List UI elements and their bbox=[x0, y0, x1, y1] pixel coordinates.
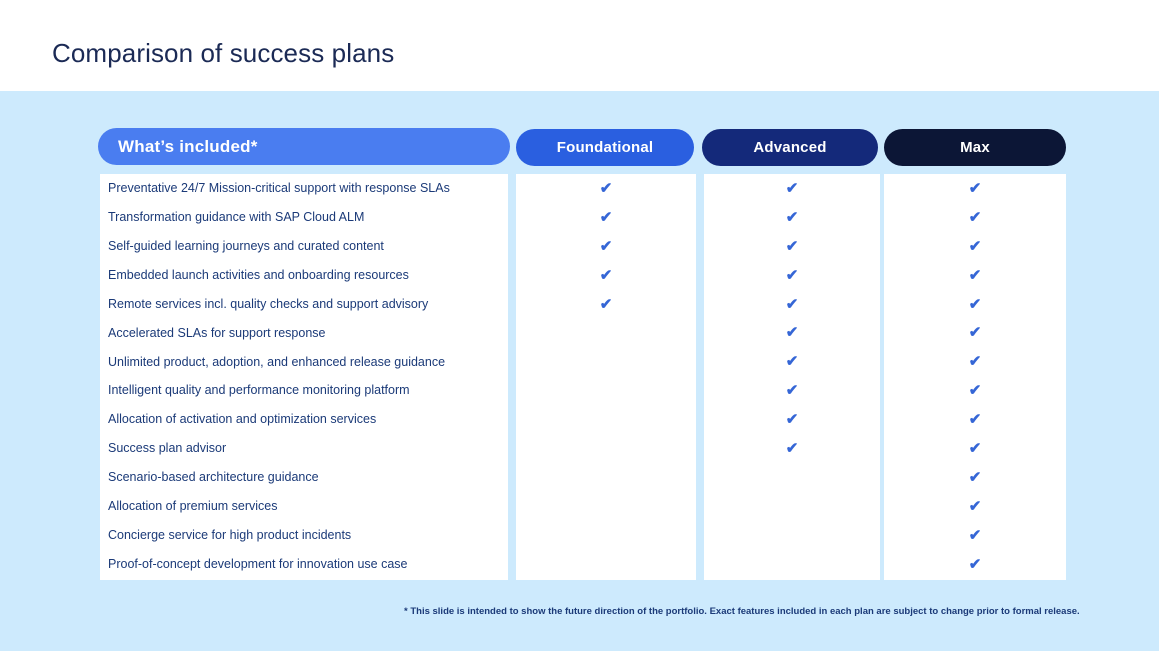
feature-label: Allocation of activation and optimizatio… bbox=[108, 413, 376, 426]
table-row: Intelligent quality and performance moni… bbox=[108, 376, 508, 405]
check-icon-cell: ✔ bbox=[884, 232, 1066, 261]
column-header-advanced[interactable]: Advanced bbox=[702, 129, 878, 166]
empty-cell: ✔ bbox=[516, 376, 696, 405]
check-icon-cell: ✔ bbox=[704, 203, 880, 232]
check-icon: ✔ bbox=[969, 383, 982, 398]
column-header-foundational[interactable]: Foundational bbox=[516, 129, 694, 166]
feature-label: Intelligent quality and performance moni… bbox=[108, 384, 410, 397]
check-icon-cell: ✔ bbox=[884, 434, 1066, 463]
check-icon: ✔ bbox=[969, 470, 982, 485]
column-header-max-label: Max bbox=[960, 139, 990, 156]
check-icon: ✔ bbox=[786, 354, 799, 369]
table-row: Allocation of premium services bbox=[108, 492, 508, 521]
check-icon: ✔ bbox=[969, 557, 982, 572]
check-icon-cell: ✔ bbox=[516, 232, 696, 261]
check-icon: ✔ bbox=[600, 181, 613, 196]
check-icon-cell: ✔ bbox=[884, 261, 1066, 290]
check-column-advanced: ✔✔✔✔✔✔✔✔✔✔✔✔✔✔ bbox=[704, 174, 880, 578]
check-icon-cell: ✔ bbox=[884, 376, 1066, 405]
check-icon: ✔ bbox=[786, 181, 799, 196]
empty-cell: ✔ bbox=[516, 347, 696, 376]
empty-cell: ✔ bbox=[704, 550, 880, 579]
check-icon: ✔ bbox=[786, 239, 799, 254]
check-icon: ✔ bbox=[600, 297, 613, 312]
check-icon: ✔ bbox=[969, 412, 982, 427]
check-icon-cell: ✔ bbox=[884, 463, 1066, 492]
empty-cell: ✔ bbox=[704, 463, 880, 492]
table-row: Proof-of-concept development for innovat… bbox=[108, 550, 508, 579]
check-icon: ✔ bbox=[969, 528, 982, 543]
empty-cell: ✔ bbox=[516, 550, 696, 579]
empty-cell: ✔ bbox=[704, 492, 880, 521]
check-icon: ✔ bbox=[786, 268, 799, 283]
check-icon: ✔ bbox=[969, 297, 982, 312]
check-icon: ✔ bbox=[969, 239, 982, 254]
check-icon-cell: ✔ bbox=[516, 174, 696, 203]
feature-label: Proof-of-concept development for innovat… bbox=[108, 558, 407, 571]
table-row: Concierge service for high product incid… bbox=[108, 521, 508, 550]
check-icon-cell: ✔ bbox=[884, 318, 1066, 347]
check-icon-cell: ✔ bbox=[516, 203, 696, 232]
feature-label: Self-guided learning journeys and curate… bbox=[108, 240, 384, 253]
check-icon: ✔ bbox=[969, 210, 982, 225]
empty-cell: ✔ bbox=[516, 405, 696, 434]
column-header-features: What’s included* bbox=[98, 128, 510, 165]
check-icon-cell: ✔ bbox=[704, 232, 880, 261]
check-icon-cell: ✔ bbox=[704, 290, 880, 319]
column-header-features-label: What’s included* bbox=[118, 137, 258, 157]
check-column-max: ✔✔✔✔✔✔✔✔✔✔✔✔✔✔ bbox=[884, 174, 1066, 578]
column-header-advanced-label: Advanced bbox=[753, 139, 826, 156]
column-header-max[interactable]: Max bbox=[884, 129, 1066, 166]
check-icon: ✔ bbox=[600, 210, 613, 225]
empty-cell: ✔ bbox=[516, 492, 696, 521]
check-icon: ✔ bbox=[600, 268, 613, 283]
feature-label: Scenario-based architecture guidance bbox=[108, 471, 319, 484]
page-title: Comparison of success plans bbox=[52, 38, 394, 69]
check-icon-cell: ✔ bbox=[884, 492, 1066, 521]
check-icon: ✔ bbox=[969, 325, 982, 340]
table-row: Remote services incl. quality checks and… bbox=[108, 290, 508, 319]
feature-list: Preventative 24/7 Mission-critical suppo… bbox=[108, 174, 508, 578]
check-icon-cell: ✔ bbox=[884, 550, 1066, 579]
table-row: Transformation guidance with SAP Cloud A… bbox=[108, 203, 508, 232]
check-icon: ✔ bbox=[786, 297, 799, 312]
check-icon: ✔ bbox=[786, 383, 799, 398]
table-row: Self-guided learning journeys and curate… bbox=[108, 232, 508, 261]
check-icon-cell: ✔ bbox=[884, 405, 1066, 434]
check-column-foundational: ✔✔✔✔✔✔✔✔✔✔✔✔✔✔ bbox=[516, 174, 696, 578]
check-icon: ✔ bbox=[786, 441, 799, 456]
check-icon-cell: ✔ bbox=[704, 376, 880, 405]
check-icon-cell: ✔ bbox=[516, 261, 696, 290]
feature-label: Accelerated SLAs for support response bbox=[108, 327, 325, 340]
table-row: Accelerated SLAs for support response bbox=[108, 318, 508, 347]
check-icon-cell: ✔ bbox=[704, 318, 880, 347]
feature-label: Allocation of premium services bbox=[108, 500, 278, 513]
check-icon: ✔ bbox=[969, 268, 982, 283]
check-icon: ✔ bbox=[600, 239, 613, 254]
check-icon-cell: ✔ bbox=[884, 203, 1066, 232]
check-icon: ✔ bbox=[969, 354, 982, 369]
check-icon-cell: ✔ bbox=[704, 434, 880, 463]
table-row: Unlimited product, adoption, and enhance… bbox=[108, 347, 508, 376]
table-row: Allocation of activation and optimizatio… bbox=[108, 405, 508, 434]
check-icon-cell: ✔ bbox=[884, 521, 1066, 550]
check-icon-cell: ✔ bbox=[704, 174, 880, 203]
check-icon: ✔ bbox=[969, 181, 982, 196]
check-icon: ✔ bbox=[786, 210, 799, 225]
footnote: * This slide is intended to show the fut… bbox=[404, 606, 1068, 617]
check-icon-cell: ✔ bbox=[884, 347, 1066, 376]
table-row: Scenario-based architecture guidance bbox=[108, 463, 508, 492]
table-row: Success plan advisor bbox=[108, 434, 508, 463]
check-icon: ✔ bbox=[786, 325, 799, 340]
title-band: Comparison of success plans bbox=[0, 0, 1159, 91]
feature-label: Embedded launch activities and onboardin… bbox=[108, 269, 409, 282]
empty-cell: ✔ bbox=[704, 521, 880, 550]
check-icon-cell: ✔ bbox=[704, 405, 880, 434]
check-icon-cell: ✔ bbox=[516, 290, 696, 319]
check-icon: ✔ bbox=[786, 412, 799, 427]
check-icon: ✔ bbox=[969, 441, 982, 456]
empty-cell: ✔ bbox=[516, 521, 696, 550]
empty-cell: ✔ bbox=[516, 318, 696, 347]
column-header-foundational-label: Foundational bbox=[557, 139, 654, 156]
check-icon: ✔ bbox=[969, 499, 982, 514]
feature-label: Remote services incl. quality checks and… bbox=[108, 298, 428, 311]
feature-label: Preventative 24/7 Mission-critical suppo… bbox=[108, 182, 450, 195]
table-row: Embedded launch activities and onboardin… bbox=[108, 261, 508, 290]
check-icon-cell: ✔ bbox=[884, 290, 1066, 319]
feature-label: Unlimited product, adoption, and enhance… bbox=[108, 356, 445, 369]
feature-label: Success plan advisor bbox=[108, 442, 226, 455]
check-icon-cell: ✔ bbox=[704, 347, 880, 376]
empty-cell: ✔ bbox=[516, 434, 696, 463]
check-icon-cell: ✔ bbox=[704, 261, 880, 290]
feature-label: Concierge service for high product incid… bbox=[108, 529, 351, 542]
empty-cell: ✔ bbox=[516, 463, 696, 492]
table-row: Preventative 24/7 Mission-critical suppo… bbox=[108, 174, 508, 203]
check-icon-cell: ✔ bbox=[884, 174, 1066, 203]
feature-label: Transformation guidance with SAP Cloud A… bbox=[108, 211, 364, 224]
